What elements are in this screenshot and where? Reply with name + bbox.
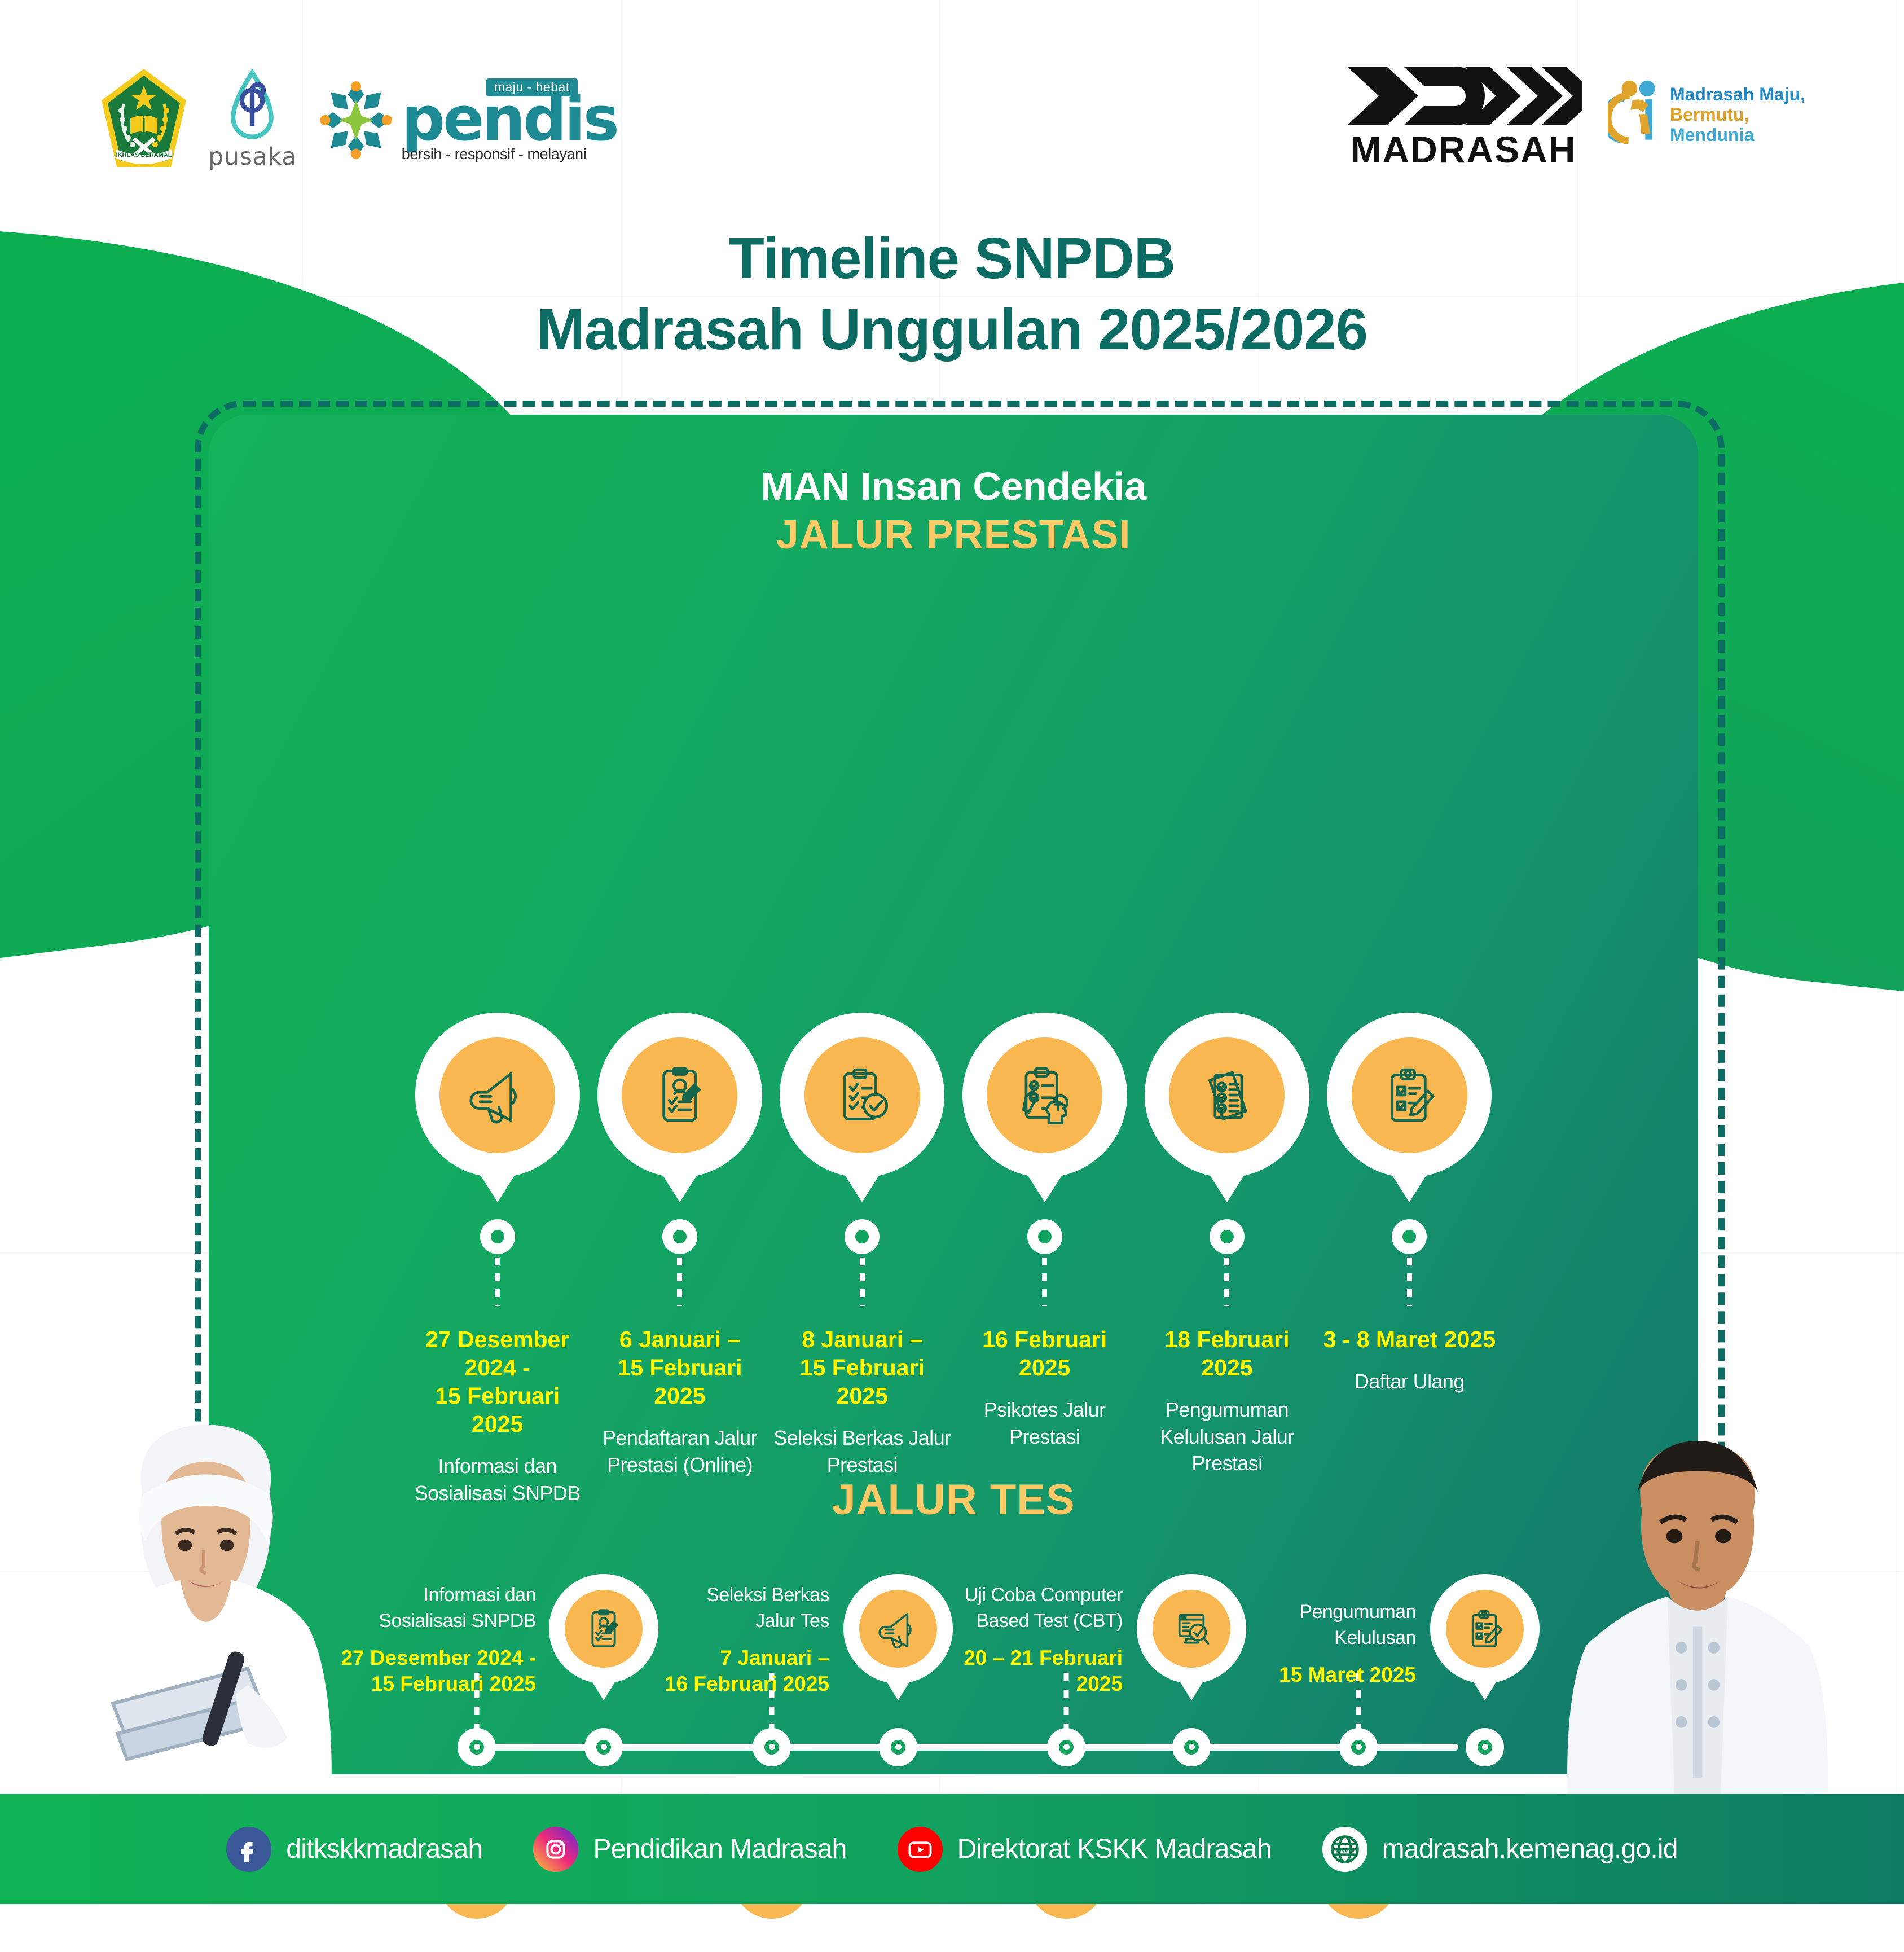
madrasah-chevron-icon [1345, 62, 1582, 130]
pusaka-logo: pusaka [208, 69, 297, 171]
prestasi-dotline-6 [1407, 1258, 1412, 1306]
tes-desc-bottom-1: Pendaftaran(Online) Jalur Tes [561, 1901, 787, 1952]
prestasi-dotline-2 [677, 1258, 682, 1306]
prestasi-pin-5 [1145, 1013, 1309, 1177]
tes-axis-node-7 [1339, 1728, 1378, 1766]
prestasi-date-1: 27 Desember 2024 -15 Februari 2025 [406, 1325, 588, 1438]
tes-date-top-3: 7 Januari –16 Februari 2025 [570, 1645, 829, 1697]
prestasi-date-5: 18 Februari 2025 [1136, 1325, 1318, 1382]
tes-desc-top-5: Uji Coba ComputerBased Test (CBT) [863, 1582, 1123, 1634]
madrasah-wordmark: MADRASAH [1350, 131, 1576, 168]
section-prestasi-subheading: JALUR PRESTASI [209, 512, 1698, 558]
prestasi-desc-2: Pendaftaran JalurPrestasi (Online) [603, 1425, 757, 1478]
tes-axis-node-3 [753, 1728, 791, 1766]
prestasi-pin-6 [1327, 1013, 1492, 1177]
student-boy-photo [1520, 1399, 1870, 1794]
prestasi-desc-4: Psikotes JalurPrestasi [984, 1396, 1106, 1450]
form-register-icon [647, 1062, 713, 1128]
clipboard-pencil-icon [1462, 1606, 1508, 1652]
page-title: Timeline SNPDB Madrasah Unggulan 2025/20… [0, 223, 1904, 364]
footer-item-website[interactable]: www madrasah.kemenag.go.id [1322, 1827, 1678, 1872]
clipboard-pencil-icon [1376, 1062, 1443, 1128]
header-logos-right: MADRASAH Madrasah Maju, Bermutu, Menduni… [1345, 62, 1805, 168]
facebook-icon [226, 1827, 271, 1872]
footer-label-facebook: ditkskkmadrasah [286, 1834, 482, 1865]
tes-desc-top-3: Seleksi BerkasJalur Tes [570, 1582, 829, 1634]
page-title-line-1: Timeline SNPDB [0, 223, 1904, 294]
header: IKHLAS BERAMAL pusaka [0, 0, 1904, 203]
prestasi-step-3[interactable]: 8 Januari –15 Februari 2025 Seleksi Berk… [771, 1013, 953, 1506]
student-girl-photo [31, 1410, 381, 1794]
madrasah-maju-logo: Madrasah Maju, Bermutu, Mendunia [1608, 76, 1805, 155]
prestasi-pin-1 [415, 1013, 580, 1177]
tes-label-top-3: Seleksi BerkasJalur Tes 7 Januari –16 Fe… [570, 1582, 829, 1697]
section-tes-heading-wrap: JALUR TES [209, 1475, 1698, 1524]
section-prestasi-heading: MAN Insan Cendekia [209, 464, 1698, 508]
pendis-badge: maju - hebat [486, 78, 578, 96]
instagram-icon [533, 1827, 578, 1872]
prestasi-step-6[interactable]: 3 - 8 Maret 2025 Daftar Ulang [1318, 1013, 1501, 1506]
pendis-wordmark: pendis [402, 91, 617, 149]
prestasi-node-6 [1392, 1219, 1427, 1254]
prestasi-date-4: 16 Februari 2025 [953, 1325, 1136, 1382]
svg-text:www: www [1334, 1845, 1355, 1854]
clipboard-check-icon [829, 1062, 895, 1128]
prestasi-desc-6: Daftar Ulang [1355, 1368, 1465, 1395]
prestasi-node-1 [480, 1219, 515, 1254]
prestasi-dotline-3 [860, 1258, 865, 1306]
prestasi-date-2: 6 Januari –15 Februari 2025 [588, 1325, 771, 1410]
prestasi-node-3 [845, 1219, 880, 1254]
prestasi-step-4[interactable]: 16 Februari 2025 Psikotes JalurPrestasi [953, 1013, 1136, 1506]
two-people-icon [1608, 76, 1662, 155]
prestasi-step-5[interactable]: 18 Februari 2025 PengumumanKelulusan Jal… [1136, 1013, 1318, 1506]
timeline-card: MAN Insan Cendekia JALUR PRESTASI 27 Des… [209, 415, 1698, 1774]
tes-date-top-5: 20 – 21 Februari2025 [863, 1645, 1123, 1697]
prestasi-dotline-4 [1042, 1258, 1047, 1306]
prestasi-step-1[interactable]: 27 Desember 2024 -15 Februari 2025 Infor… [406, 1013, 588, 1506]
footer-label-youtube: Direktorat KSKK Madrasah [957, 1834, 1272, 1865]
pendis-tagline: bersih - responsif - melayani [402, 147, 587, 162]
prestasi-timeline: 27 Desember 2024 -15 Februari 2025 Infor… [209, 1013, 1698, 1506]
documents-list-icon [1194, 1062, 1260, 1128]
footer-item-youtube[interactable]: Direktorat KSKK Madrasah [898, 1827, 1272, 1872]
prestasi-step-2[interactable]: 6 Januari –15 Februari 2025 Pendaftaran … [588, 1013, 771, 1506]
footer-item-facebook[interactable]: ditkskkmadrasah [226, 1827, 482, 1872]
tes-timeline-axis [477, 1744, 1458, 1751]
svg-text:IKHLAS BERAMAL: IKHLAS BERAMAL [116, 152, 172, 159]
footer-item-instagram[interactable]: Pendidikan Madrasah [533, 1827, 846, 1872]
section-tes-heading: JALUR TES [209, 1475, 1698, 1524]
pusaka-drop-icon [229, 69, 275, 142]
mbm-line-2: Bermutu, [1670, 105, 1805, 125]
prestasi-pin-3 [780, 1013, 944, 1177]
footer-label-instagram: Pendidikan Madrasah [593, 1834, 846, 1865]
website-icon: www [1322, 1827, 1367, 1872]
prestasi-desc-3: Seleksi Berkas JalurPrestasi [773, 1425, 951, 1478]
madrasah-logo: MADRASAH [1345, 62, 1582, 168]
page-title-line-2: Madrasah Unggulan 2025/2026 [0, 294, 1904, 365]
footer-bar: ditkskkmadrasah Pendidikan Madrasah Dire… [0, 1794, 1904, 1904]
prestasi-node-2 [662, 1219, 697, 1254]
tes-label-top-5: Uji Coba ComputerBased Test (CBT) 20 – 2… [863, 1582, 1123, 1697]
tes-desc-top-7: PengumumanKelulusan [1168, 1599, 1416, 1651]
megaphone-icon [464, 1062, 531, 1128]
prestasi-desc-5: PengumumanKelulusan JalurPrestasi [1160, 1396, 1294, 1477]
mbm-line-3: Mendunia [1670, 125, 1805, 146]
prestasi-node-4 [1027, 1219, 1062, 1254]
prestasi-dotline-1 [495, 1258, 500, 1306]
tes-axis-node-5 [1047, 1728, 1085, 1766]
pendis-logo: maju - hebat pendis bersih - responsif -… [316, 77, 617, 163]
footer-label-website: madrasah.kemenag.go.id [1382, 1834, 1678, 1865]
tes-label-top-7: PengumumanKelulusan 15 Maret 2025 [1168, 1599, 1416, 1688]
header-logos-left: IKHLAS BERAMAL pusaka [99, 67, 617, 174]
prestasi-pin-4 [962, 1013, 1127, 1177]
youtube-icon [898, 1827, 943, 1872]
prestasi-pin-2 [597, 1013, 762, 1177]
prestasi-date-6: 3 - 8 Maret 2025 [1323, 1325, 1496, 1353]
tes-date-top-7: 15 Maret 2025 [1168, 1662, 1416, 1688]
psychology-test-icon [1012, 1062, 1078, 1128]
prestasi-dotline-5 [1224, 1258, 1229, 1306]
tes-axis-node-1 [458, 1728, 496, 1766]
pusaka-label: pusaka [208, 143, 297, 171]
pendis-ornament-icon [316, 77, 396, 163]
kemenag-logo: IKHLAS BERAMAL [99, 67, 189, 174]
prestasi-date-3: 8 Januari –15 Februari 2025 [771, 1325, 953, 1410]
prestasi-node-5 [1210, 1219, 1245, 1254]
mbm-line-1: Madrasah Maju, [1670, 85, 1805, 105]
